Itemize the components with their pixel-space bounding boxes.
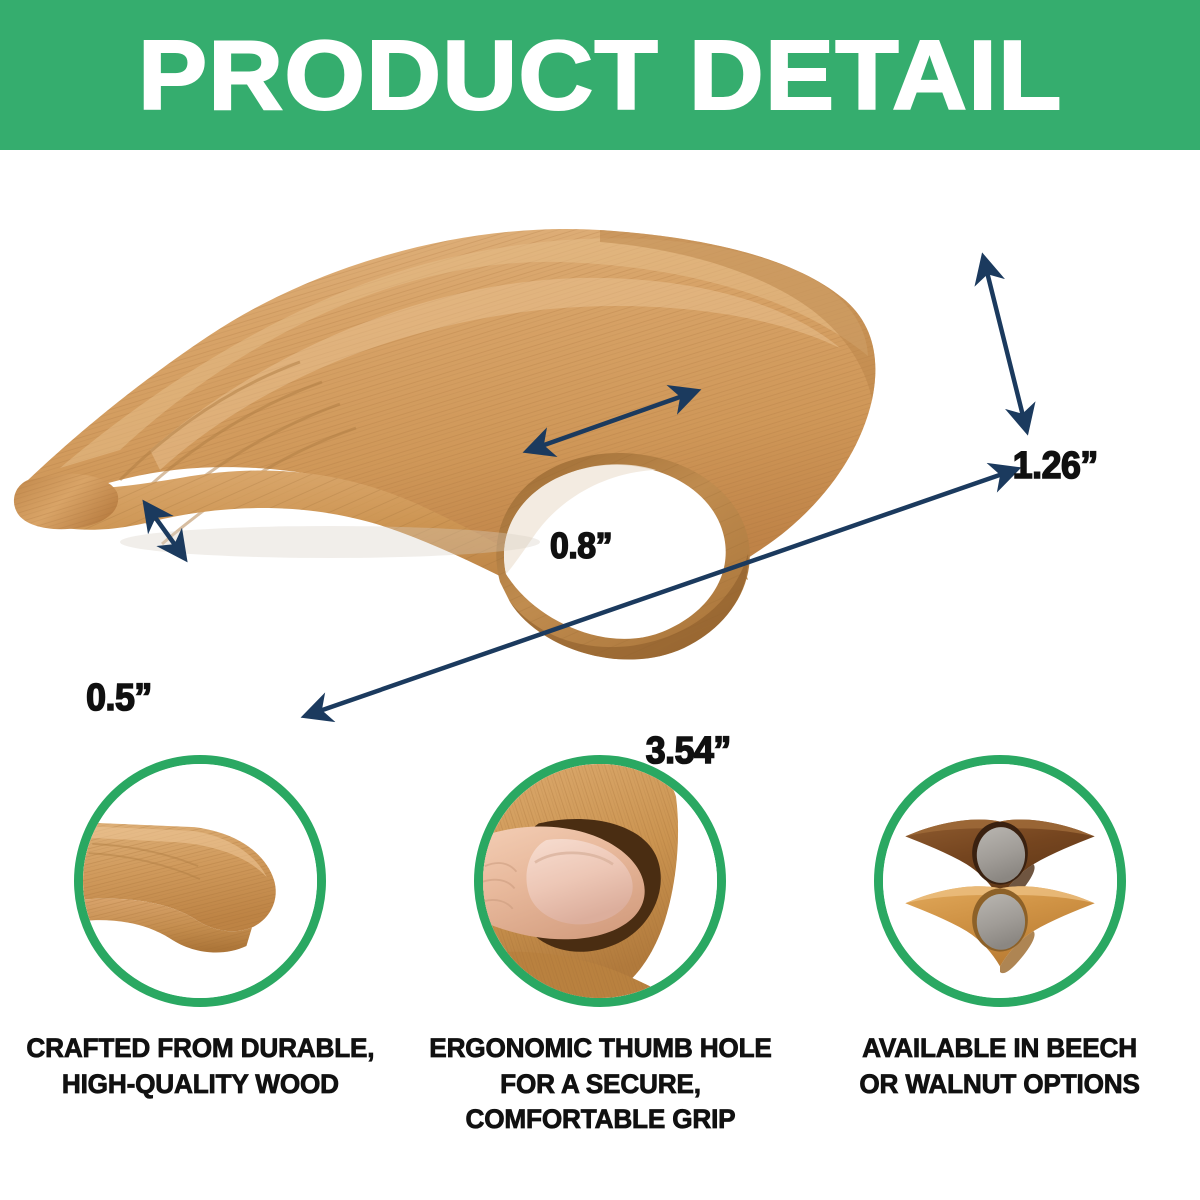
- feature-caption-3: AVAILABLE IN BEECH OR WALNUT OPTIONS: [860, 1031, 1140, 1102]
- feature-highlights-row: CRAFTED FROM DURABLE, HIGH-QUALITY WOOD: [0, 755, 1200, 1200]
- hero-product-section: 1.26” 0.8” 0.5” 3.54”: [0, 150, 1200, 750]
- feature-wood-options: AVAILABLE IN BEECH OR WALNUT OPTIONS: [800, 755, 1200, 1200]
- caption-line: HIGH-QUALITY WOOD: [26, 1067, 374, 1103]
- dimension-arrow-height: [984, 260, 1026, 428]
- caption-line: FOR A SECURE,: [429, 1067, 771, 1103]
- feature-caption-2: ERGONOMIC THUMB HOLE FOR A SECURE, COMFO…: [429, 1031, 771, 1138]
- feature-ergonomic-thumb-hole: ERGONOMIC THUMB HOLE FOR A SECURE, COMFO…: [400, 755, 800, 1200]
- caption-line: COMFORTABLE GRIP: [429, 1102, 771, 1138]
- thumb-hole: [496, 453, 750, 659]
- caption-line: ERGONOMIC THUMB HOLE: [429, 1031, 771, 1067]
- page-title: PRODUCT DETAIL: [138, 26, 1063, 124]
- dimension-label-thumb-hole: 0.8”: [550, 525, 612, 567]
- feature-image-circle-1: [74, 755, 326, 1007]
- header-banner: PRODUCT DETAIL: [0, 0, 1200, 150]
- beech-and-walnut-variants-icon: [883, 764, 1117, 998]
- caption-line: AVAILABLE IN BEECH: [860, 1031, 1140, 1067]
- caption-line: CRAFTED FROM DURABLE,: [26, 1031, 374, 1067]
- feature-image-circle-3: [874, 755, 1126, 1007]
- wood-edge-closeup-icon: [83, 764, 317, 998]
- wooden-grip-body: [14, 229, 875, 660]
- feature-image-circle-2: [474, 755, 726, 1007]
- thumb-in-hole-closeup-icon: [483, 764, 717, 998]
- feature-crafted-from-wood: CRAFTED FROM DURABLE, HIGH-QUALITY WOOD: [0, 755, 400, 1200]
- feature-caption-1: CRAFTED FROM DURABLE, HIGH-QUALITY WOOD: [26, 1031, 374, 1102]
- dimension-label-thickness: 0.5”: [86, 677, 152, 720]
- caption-line: OR WALNUT OPTIONS: [860, 1067, 1140, 1103]
- dimension-label-height: 1.26”: [1013, 445, 1098, 488]
